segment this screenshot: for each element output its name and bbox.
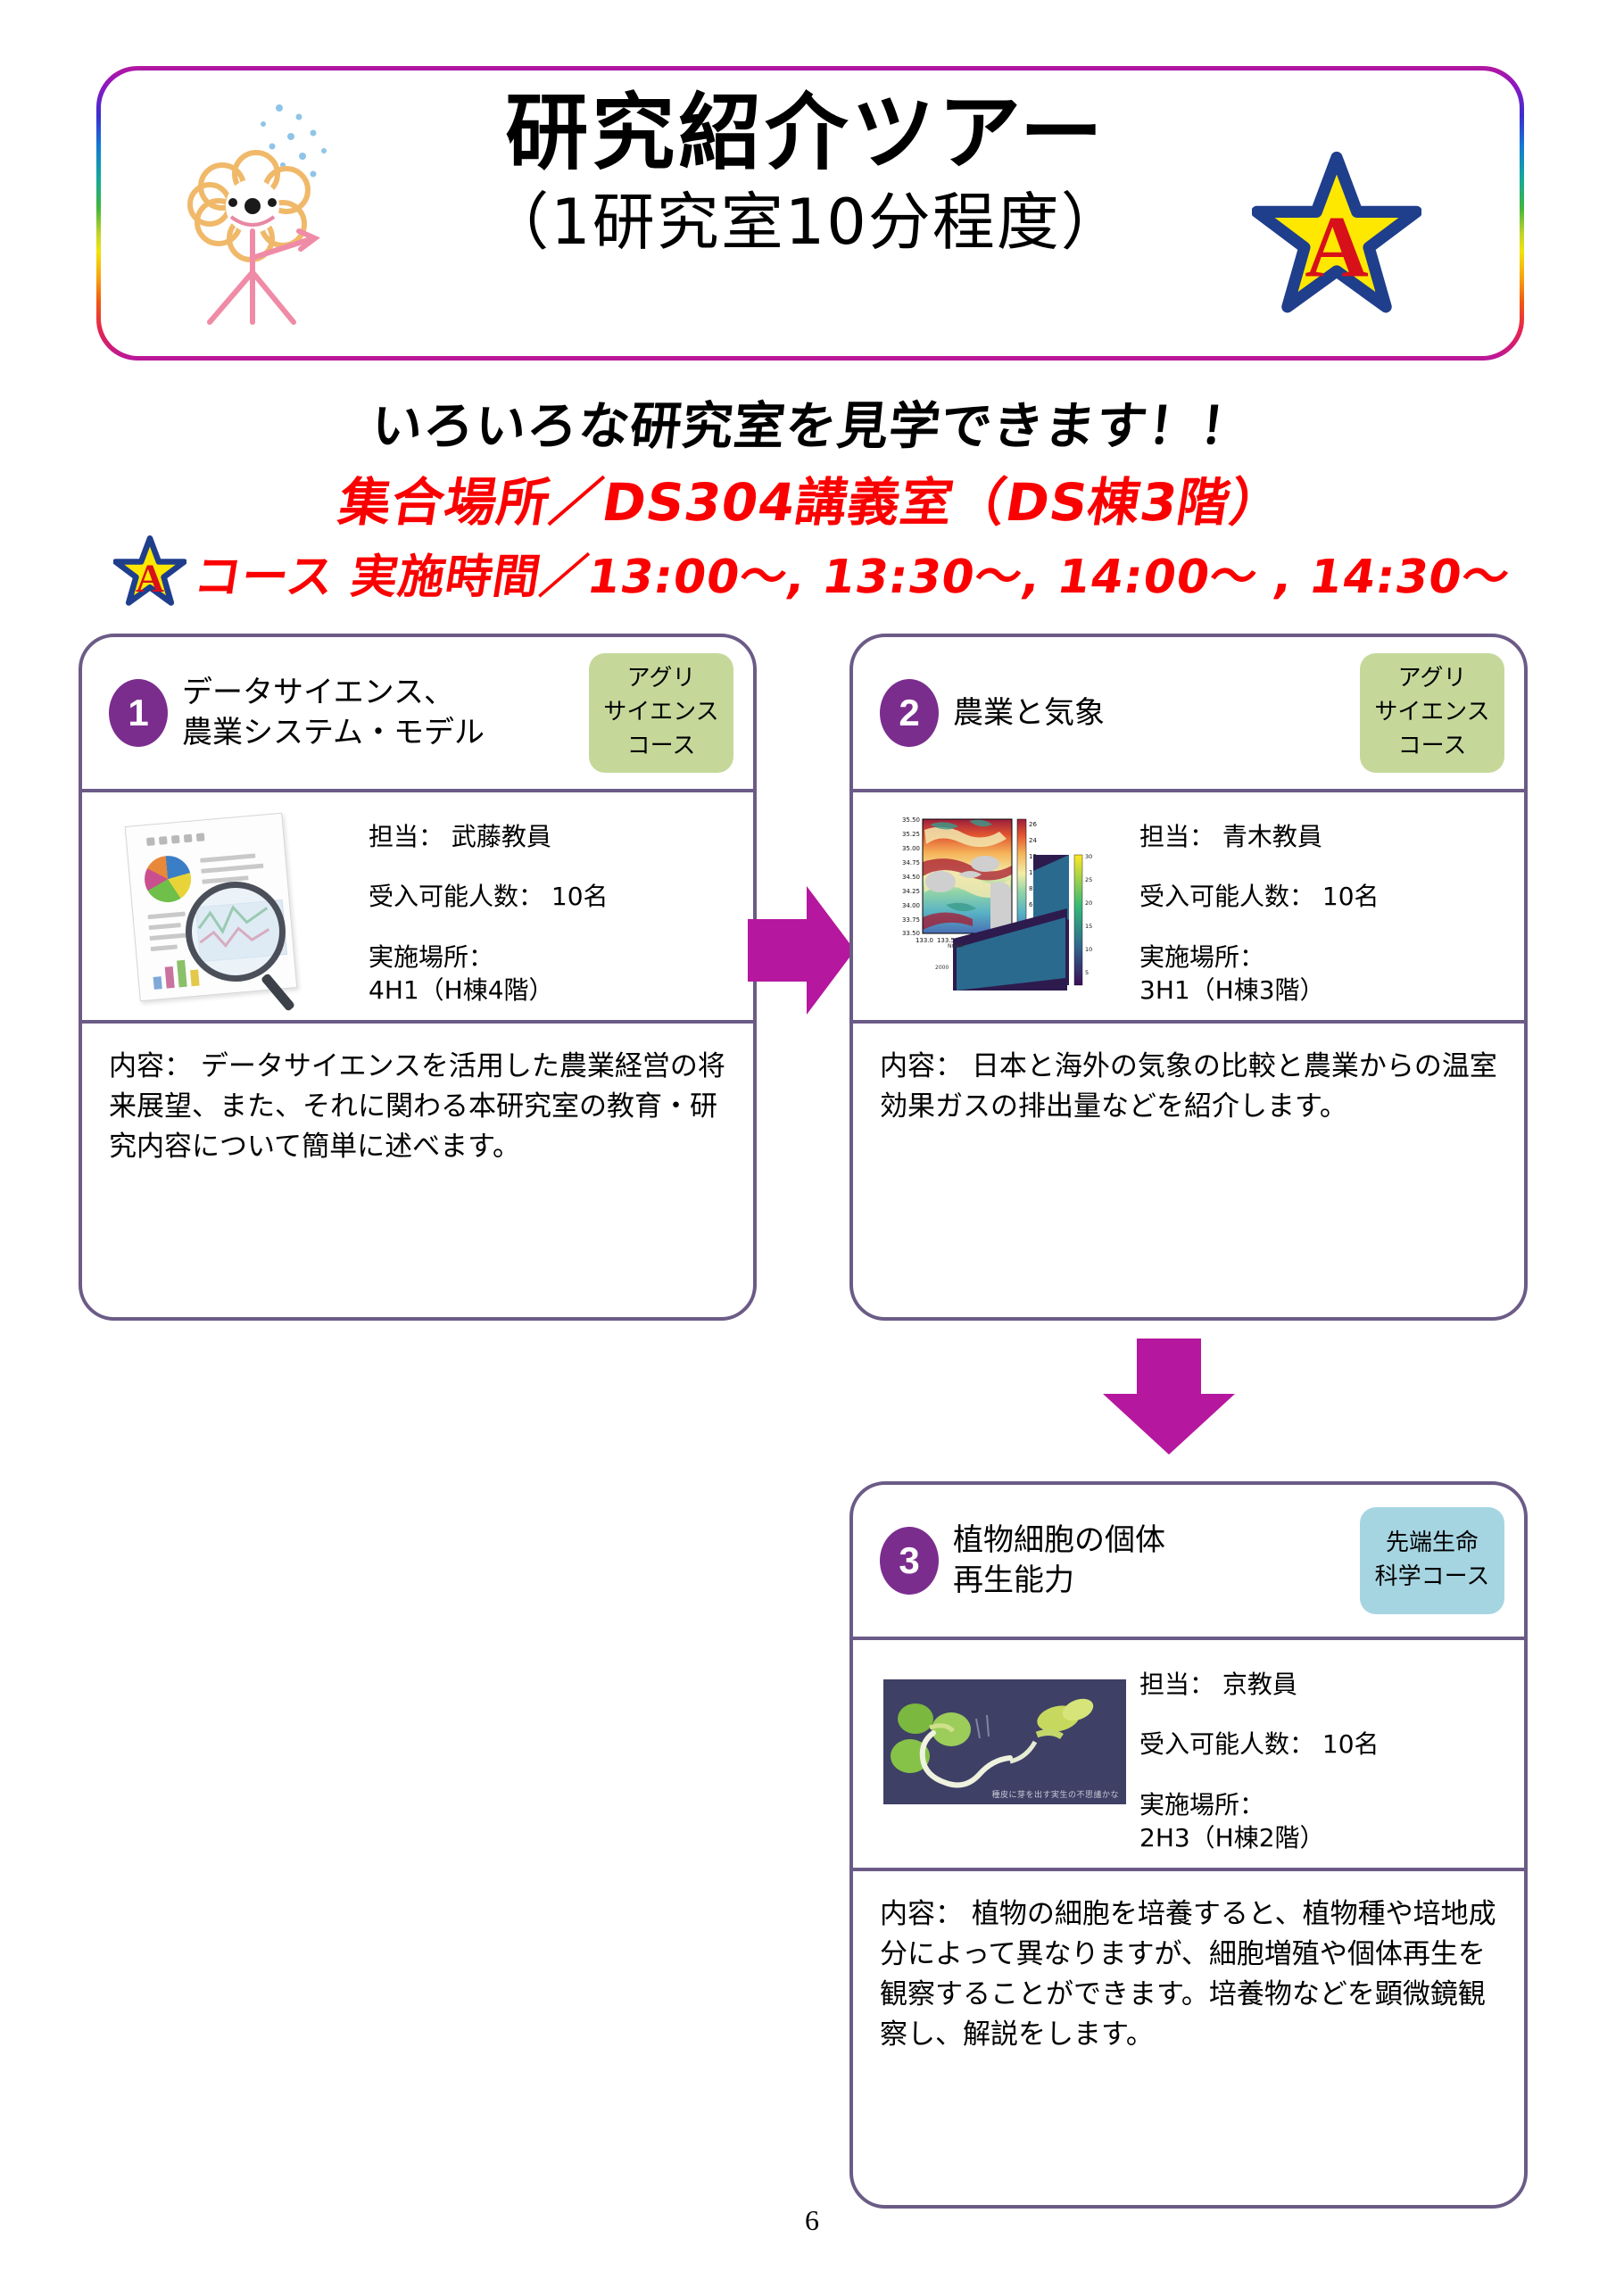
research-card-1[interactable]: 1 データサイエンス、 農業システム・モデル アグリ サイエンス コース — [79, 634, 757, 1321]
svg-text:35.25: 35.25 — [902, 831, 920, 838]
svg-text:34.25: 34.25 — [902, 888, 920, 895]
course-line-3: コース — [1398, 730, 1467, 764]
card-meta: 担当： 武藤教員 受入可能人数： 10名 実施場所： 4H1（H棟4階） — [361, 812, 732, 1004]
svg-text:5: 5 — [1085, 969, 1089, 976]
svg-text:133.0: 133.0 — [916, 937, 933, 944]
capacity-label: 受入可能人数： — [1139, 1729, 1314, 1759]
headline-schedule: コース 実施時間／13:00〜, 13:30〜, 14:00〜 , 14:30〜 — [190, 539, 1515, 606]
location-line: 実施場所： 4H1（H棟4階） — [369, 943, 732, 1005]
teacher-line: 担当： 武藤教員 — [369, 823, 732, 850]
course-line-1: アグリ — [1398, 662, 1467, 696]
course-line-1: 先端生命 — [1386, 1527, 1479, 1561]
arrow-down-icon — [1098, 1339, 1240, 1455]
headline-visit: いろいろな研究室を見学できます！！ — [0, 385, 1624, 459]
card-info: 担当： 武藤教員 受入可能人数： 10名 実施場所： 4H1（H棟4階） — [82, 792, 753, 1020]
page-title: 研究紹介ツアー — [369, 87, 1243, 179]
card-title-line1: データサイエンス、 — [182, 673, 589, 713]
svg-text:10: 10 — [1085, 946, 1092, 953]
course-badge: 先端生命 科学コース — [1360, 1507, 1504, 1614]
card-number-badge: 1 — [109, 679, 168, 747]
location-line: 実施場所： 3H1（H棟3階） — [1139, 943, 1503, 1005]
svg-text:20: 20 — [1085, 899, 1092, 907]
location-line: 実施場所： 2H3（H棟2階） — [1139, 1791, 1503, 1853]
page-number: 6 — [0, 2204, 1624, 2237]
capacity-line: 受入可能人数： 10名 — [1139, 883, 1503, 910]
svg-text:2000: 2000 — [935, 965, 949, 971]
svg-text:34.00: 34.00 — [902, 902, 920, 909]
course-line-2: 科学コース — [1375, 1561, 1490, 1595]
card-description: 内容： データサイエンスを活用した農業経営の将来展望、また、それに関わる本研究室… — [82, 1024, 753, 1185]
svg-text:34.50: 34.50 — [902, 874, 920, 881]
page-subtitle: （1研究室10分程度） — [369, 185, 1243, 260]
location-value: 2H3（H棟2階） — [1139, 1824, 1503, 1852]
teacher-label: 担当： — [1139, 1670, 1214, 1699]
star-letter: A — [1305, 199, 1368, 296]
teacher-label: 担当： — [369, 822, 443, 851]
svg-text:33.75: 33.75 — [902, 916, 920, 924]
location-label: 実施場所： — [369, 943, 732, 971]
teacher-line: 担当： 青木教員 — [1139, 823, 1503, 850]
svg-text:15: 15 — [1085, 923, 1092, 930]
course-line-3: コース — [627, 730, 696, 764]
svg-text:33.50: 33.50 — [902, 930, 920, 937]
header-inner: 研究紹介ツアー （1研究室10分程度） A — [101, 70, 1520, 356]
location-value: 3H1（H棟3階） — [1139, 976, 1503, 1004]
headline-meeting-place: 集合場所／DS304講義室（DS棟3階） — [0, 460, 1624, 535]
course-badge: アグリ サイエンス コース — [1360, 653, 1504, 772]
course-line-1: アグリ — [627, 662, 696, 696]
teacher-label: 担当： — [1139, 822, 1214, 851]
card-header: 2 農業と気象 アグリ サイエンス コース — [853, 637, 1524, 789]
svg-text:24: 24 — [1029, 837, 1037, 844]
card-title-line1: 農業と気象 — [953, 693, 1360, 734]
research-card-2[interactable]: 2 農業と気象 アグリ サイエンス コース — [849, 634, 1528, 1321]
svg-text:35.50: 35.50 — [902, 816, 920, 824]
svg-text:35.00: 35.00 — [902, 845, 920, 852]
svg-text:6: 6 — [1029, 901, 1033, 908]
card-info: 種皮に芽を出す実生の不思議かな 担当： 京教員 受入可能人数： 10名 実施場所… — [853, 1640, 1524, 1868]
card-meta: 担当： 京教員 受入可能人数： 10名 実施場所： 2H3（H棟2階） — [1132, 1660, 1503, 1852]
plant-seedling-photo: 種皮に芽を出す実生の不思議かな — [878, 1660, 1132, 1843]
capacity-label: 受入可能人数： — [369, 882, 543, 911]
svg-text:8: 8 — [1029, 885, 1032, 892]
card-description: 内容： 日本と海外の気象の比較と農業からの温室効果ガスの排出量などを紹介します。 — [853, 1024, 1524, 1145]
card-number-badge: 2 — [880, 679, 939, 747]
location-label: 実施場所： — [1139, 943, 1503, 971]
capacity-label: 受入可能人数： — [1139, 882, 1314, 911]
course-line-2: サイエンス — [1374, 696, 1489, 730]
capacity-value: 10名 — [1322, 882, 1380, 911]
headline-schedule-row: A コース 実施時間／13:00〜, 13:30〜, 14:00〜 , 14:3… — [0, 535, 1624, 609]
course-badge: アグリ サイエンス コース — [589, 653, 733, 772]
capacity-line: 受入可能人数： 10名 — [369, 883, 732, 910]
svg-text:34.75: 34.75 — [902, 859, 920, 866]
card-title-line1: 植物細胞の個体 — [953, 1521, 1360, 1561]
course-a-star-small-icon: A — [113, 535, 186, 609]
weather-map-icon: 35.5035.25 35.0034.75 34.5034.25 34.0033… — [878, 812, 1132, 995]
card-header: 3 植物細胞の個体 再生能力 先端生命 科学コース — [853, 1485, 1524, 1637]
photo-caption: 種皮に芽を出す実生の不思議かな — [991, 1788, 1119, 1800]
location-value: 4H1（H棟4階） — [369, 976, 732, 1004]
capacity-line: 受入可能人数： 10名 — [1139, 1730, 1503, 1758]
capacity-value: 10名 — [551, 882, 609, 911]
star-letter-small: A — [136, 556, 164, 600]
card-title-line2: 再生能力 — [953, 1561, 1360, 1601]
header-title-block: 研究紹介ツアー （1研究室10分程度） — [369, 87, 1243, 260]
location-label: 実施場所： — [1139, 1791, 1503, 1819]
card-title: 農業と気象 — [953, 693, 1360, 734]
card-title-line2: 農業システム・モデル — [182, 713, 589, 753]
arrow-right-icon — [748, 879, 855, 1022]
card-meta: 担当： 青木教員 受入可能人数： 10名 実施場所： 3H1（H棟3階） — [1132, 812, 1503, 1004]
card-description: 内容： 植物の細胞を培養すると、植物種や培地成分によって異なりますが、細胞増殖や… — [853, 1871, 1524, 2073]
svg-text:26: 26 — [1029, 821, 1037, 828]
teacher-value: 武藤教員 — [452, 822, 551, 851]
course-line-2: サイエンス — [603, 696, 718, 730]
card-number-badge: 3 — [880, 1527, 939, 1595]
card-info: 35.5035.25 35.0034.75 34.5034.25 34.0033… — [853, 792, 1524, 1020]
capacity-value: 10名 — [1322, 1729, 1380, 1759]
teacher-value: 京教員 — [1222, 1670, 1297, 1699]
card-header: 1 データサイエンス、 農業システム・モデル アグリ サイエンス コース — [82, 637, 753, 789]
teacher-value: 青木教員 — [1222, 822, 1322, 851]
flower-mascot-icon — [163, 97, 355, 325]
course-a-star-icon: A — [1252, 151, 1421, 320]
svg-text:30: 30 — [1085, 853, 1092, 860]
card-title: データサイエンス、 農業システム・モデル — [182, 673, 589, 753]
data-report-icon — [107, 812, 361, 995]
header-banner: 研究紹介ツアー （1研究室10分程度） A — [96, 66, 1524, 361]
svg-text:NOAA: NOAA — [948, 943, 964, 949]
teacher-line: 担当： 京教員 — [1139, 1670, 1503, 1698]
research-card-3[interactable]: 3 植物細胞の個体 再生能力 先端生命 科学コース — [849, 1481, 1528, 2209]
svg-text:25: 25 — [1085, 876, 1092, 883]
card-title: 植物細胞の個体 再生能力 — [953, 1521, 1360, 1601]
